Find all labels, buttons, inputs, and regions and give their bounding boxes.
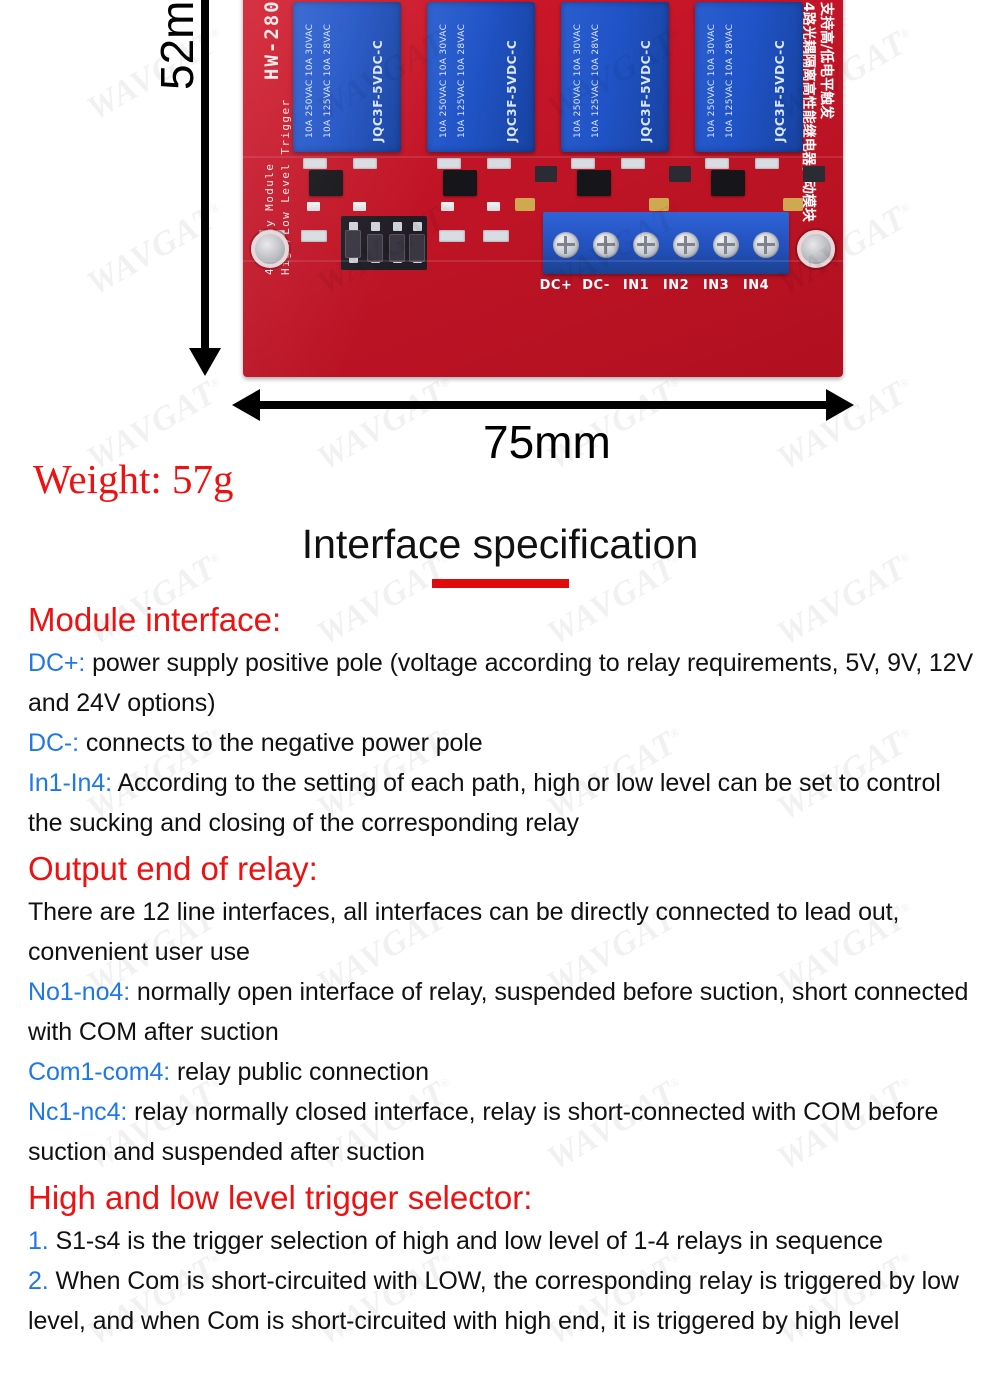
transistor-1 <box>535 166 557 182</box>
paragraph-tag: 1. <box>28 1227 49 1255</box>
relay-2-rating-line1: 10A 250VAC 10A 30VAC <box>439 24 449 138</box>
resistor-7 <box>301 230 327 242</box>
relay-1-model: JQC3F-5VDC-C <box>371 40 385 142</box>
status-led-1 <box>307 202 320 211</box>
relay-4-model: JQC3F-5VDC-C <box>773 40 787 142</box>
mounting-hole-bottom-left <box>251 230 289 268</box>
relay-4-rating-line1: 10A 250VAC 10A 30VAC <box>707 24 717 138</box>
watermark-text: WAVGAT® <box>0 719 2 828</box>
diode-2 <box>649 198 669 211</box>
resistor-1b <box>353 158 377 169</box>
optocoupler-2 <box>443 170 477 196</box>
product-photo: 52mm 75mm HW-280 4 Relay Module High/Low… <box>0 0 1000 455</box>
specification-body: Module interface:DC+: power supply posit… <box>28 594 980 1341</box>
weight-label: Weight: 57g <box>33 455 234 503</box>
paragraph-tag: Nc1-nc4: <box>28 1098 127 1126</box>
resistor-3b <box>621 158 645 169</box>
section-paragraph: In1-In4: According to the setting of eac… <box>28 763 980 843</box>
paragraph-tag: Com1-com4: <box>28 1058 170 1086</box>
resistor-2a <box>437 158 461 169</box>
section-paragraph: DC+: power supply positive pole (voltage… <box>28 643 980 723</box>
optocoupler-1 <box>309 170 343 196</box>
paragraph-text: When Com is short-circuited with LOW, th… <box>28 1267 959 1335</box>
terminal-label-in2: IN2 <box>655 278 697 293</box>
section-paragraph: Com1-com4: relay public connection <box>28 1052 980 1092</box>
watermark-text: WAVGAT® <box>0 1244 2 1353</box>
title-underline <box>432 579 569 588</box>
resistor-3a <box>571 158 595 169</box>
resistor-6 <box>483 230 509 242</box>
terminal-label-dc-plus: DC+ <box>535 278 577 293</box>
relay-3-rating-line1: 10A 250VAC 10A 30VAC <box>573 24 583 138</box>
page-title: Interface specification <box>0 521 1000 568</box>
terminal-label-in3: IN3 <box>695 278 737 293</box>
status-led-3 <box>441 202 454 211</box>
paragraph-text: According to the setting of each path, h… <box>28 769 941 837</box>
terminal-label-in1: IN1 <box>615 278 657 293</box>
relay-1-rating-line2: 10A 125VAC 10A 28VAC <box>323 24 333 138</box>
relay-board-pcb: HW-280 4 Relay Module High/Low Level Tri… <box>243 0 843 377</box>
section-paragraph: No1-no4: normally open interface of rela… <box>28 972 980 1052</box>
relay-3-model: JQC3F-5VDC-C <box>639 40 653 142</box>
section-heading: High and low level trigger selector: <box>28 1174 980 1221</box>
optocoupler-3 <box>577 170 611 196</box>
section-heading: Module interface: <box>28 596 980 643</box>
paragraph-tag: In1-In4: <box>28 769 112 797</box>
section-paragraph: Nc1-nc4: relay normally closed interface… <box>28 1092 980 1172</box>
section-paragraph: 1. S1-s4 is the trigger selection of hig… <box>28 1221 980 1261</box>
relay-1-rating-line1: 10A 250VAC 10A 30VAC <box>305 24 315 138</box>
paragraph-text: There are 12 line interfaces, all interf… <box>28 898 899 966</box>
silkscreen-model-text: HW-280 <box>261 0 283 80</box>
relay-4: 10A 250VAC 10A 30VAC 10A 125VAC 10A 28VA… <box>695 2 803 152</box>
relay-3: 10A 250VAC 10A 30VAC 10A 125VAC 10A 28VA… <box>561 2 669 152</box>
relay-1: 10A 250VAC 10A 30VAC 10A 125VAC 10A 28VA… <box>293 2 401 152</box>
relay-4-rating-line2: 10A 125VAC 10A 28VAC <box>725 24 735 138</box>
jumper-shunt-2[interactable] <box>367 234 383 262</box>
height-dimension-label: 52mm <box>150 0 204 90</box>
resistor-5 <box>439 230 465 242</box>
status-led-4 <box>487 202 500 211</box>
mounting-hole-bottom-right <box>797 230 835 268</box>
transistor-2 <box>669 166 691 182</box>
relay-2-rating-line2: 10A 125VAC 10A 28VAC <box>457 24 467 138</box>
paragraph-text: relay public connection <box>170 1058 429 1086</box>
width-dimension-label: 75mm <box>483 415 611 469</box>
terminal-label-in4: IN4 <box>735 278 777 293</box>
section-paragraph: 2. When Com is short-circuited with LOW,… <box>28 1261 980 1341</box>
paragraph-tag: DC+: <box>28 649 85 677</box>
jumper-shunt-4[interactable] <box>409 234 425 262</box>
terminal-label-dc-minus: DC- <box>575 278 617 293</box>
jumper-shunt-1[interactable] <box>345 230 361 258</box>
transistor-3 <box>803 166 825 182</box>
paragraph-text: normally open interface of relay, suspen… <box>28 978 968 1046</box>
section-paragraph: There are 12 line interfaces, all interf… <box>28 892 980 972</box>
paragraph-tag: 2. <box>28 1267 49 1295</box>
diode-1 <box>515 198 535 211</box>
diode-3 <box>783 198 803 211</box>
paragraph-text: S1-s4 is the trigger selection of high a… <box>49 1227 883 1255</box>
relay-3-rating-line2: 10A 125VAC 10A 28VAC <box>591 24 601 138</box>
paragraph-text: power supply positive pole (voltage acco… <box>28 649 973 717</box>
relay-2-model: JQC3F-5VDC-C <box>505 40 519 142</box>
silkscreen-chinese-line2: 支持高/低电平触发 <box>817 2 837 119</box>
resistor-1a <box>303 158 327 169</box>
silkscreen-chinese-block: 4路光耦隔离高性能继电器驱动模块 支持高/低电平触发 <box>797 2 837 232</box>
width-dimension-arrow <box>258 401 828 409</box>
status-led-2 <box>353 202 366 211</box>
relay-2: 10A 250VAC 10A 30VAC 10A 125VAC 10A 28VA… <box>427 2 535 152</box>
page-root: 52mm 75mm HW-280 4 Relay Module High/Low… <box>0 0 1000 1400</box>
input-terminal-block <box>543 212 789 274</box>
paragraph-tag: DC-: <box>28 729 79 757</box>
resistor-4b <box>755 158 779 169</box>
section-paragraph: DC-: connects to the negative power pole <box>28 723 980 763</box>
watermark-text: WAVGAT® <box>0 894 2 1003</box>
jumper-shunt-3[interactable] <box>389 234 405 262</box>
resistor-4a <box>705 158 729 169</box>
paragraph-text: relay normally closed interface, relay i… <box>28 1098 938 1166</box>
optocoupler-4 <box>711 170 745 196</box>
paragraph-text: connects to the negative power pole <box>79 729 483 757</box>
paragraph-tag: No1-no4: <box>28 978 130 1006</box>
section-heading: Output end of relay: <box>28 845 980 892</box>
watermark-text: WAVGAT® <box>0 1069 2 1178</box>
resistor-2b <box>487 158 511 169</box>
